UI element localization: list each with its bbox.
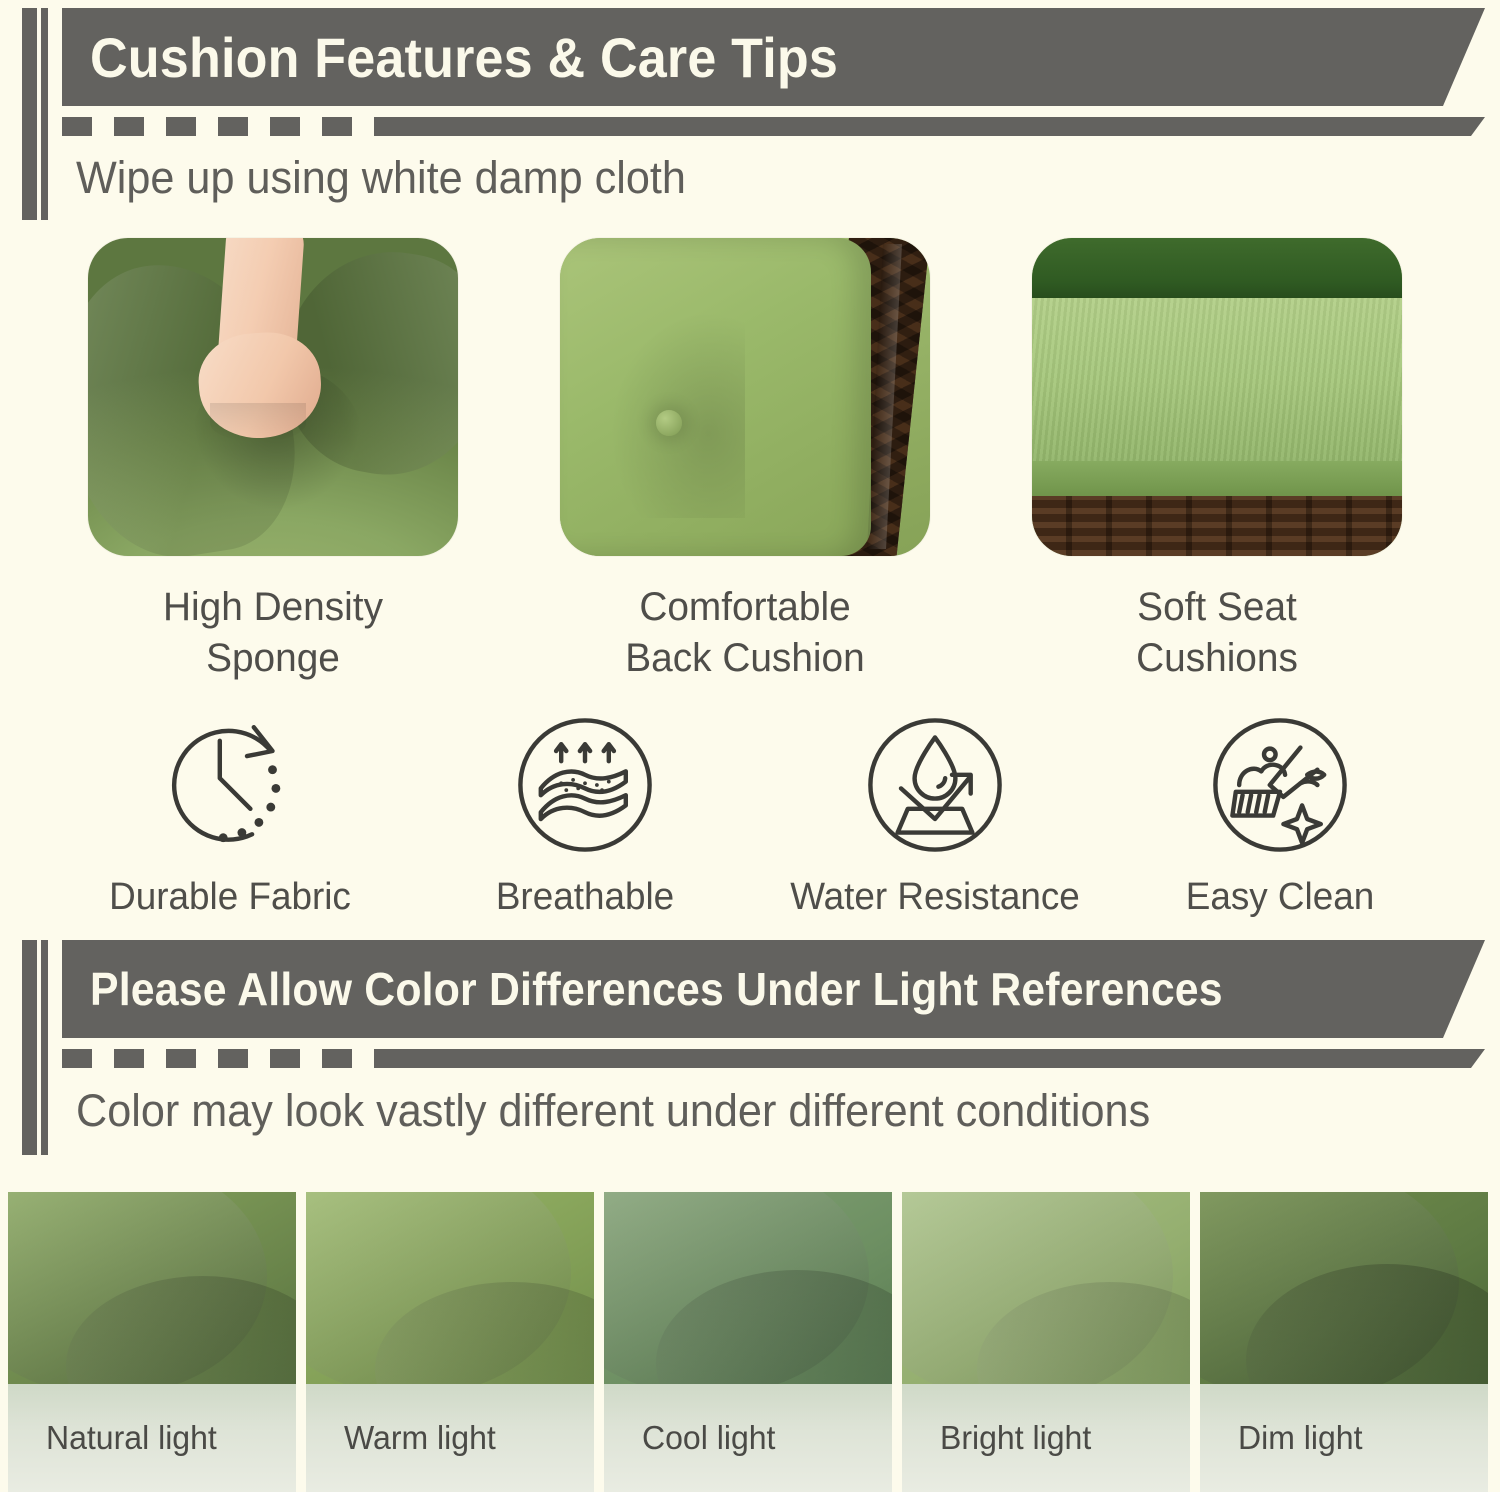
photo-soft-seat-cushions (1032, 238, 1402, 556)
feature-label: Breathable (410, 876, 759, 919)
swatch-caption-band: Cool light (604, 1384, 892, 1492)
divider-dash (166, 1049, 196, 1068)
feature-label: Durable Fabric (55, 876, 404, 919)
photo-cell-high-density-sponge: High Density Sponge (68, 238, 478, 684)
swatch-cool-light: Cool light (604, 1192, 892, 1492)
swatch-caption-band: Dim light (1200, 1384, 1488, 1492)
swatch-caption-band: Warm light (306, 1384, 594, 1492)
banner-color-differences: Please Allow Color Differences Under Lig… (62, 940, 1485, 1038)
swatch-label: Natural light (46, 1419, 217, 1457)
feature-easy-clean: Easy Clean (1100, 700, 1460, 919)
photo-cell-soft-seat-cushions: Soft Seat Cushions (1012, 238, 1422, 684)
photo-image (88, 238, 458, 556)
swatch-dim-light: Dim light (1200, 1192, 1488, 1492)
feature-photo-row: High Density Sponge Comfortable Back Cus… (0, 238, 1500, 693)
photo-image (560, 238, 930, 556)
photo-image (1032, 238, 1402, 556)
swatch-caption-band: Bright light (902, 1384, 1190, 1492)
breathable-fabric-icon (500, 700, 670, 870)
photo-high-density-sponge (88, 238, 458, 556)
feature-water-resistance: Water Resistance (755, 700, 1115, 919)
divider-dashed-top (62, 117, 1485, 136)
feature-durable-fabric: Durable Fabric (50, 700, 410, 919)
divider-solid (374, 1049, 1485, 1068)
swatch-label: Dim light (1238, 1419, 1363, 1457)
caption-line-1: Soft Seat (1018, 582, 1416, 633)
divider-dash (114, 117, 144, 136)
swatch-natural-light: Natural light (8, 1192, 296, 1492)
photo-comfortable-back-cushion (560, 238, 930, 556)
banner-title: Cushion Features & Care Tips (90, 25, 838, 90)
water-droplet-repel-icon (850, 700, 1020, 870)
divider-dash (166, 117, 196, 136)
divider-dash (322, 117, 352, 136)
caption-line-1: High Density (74, 582, 472, 633)
photo-caption: Comfortable Back Cushion (546, 582, 944, 684)
subtitle-wipe-instruction: Wipe up using white damp cloth (76, 152, 686, 204)
left-rule-thick-bottom (22, 940, 37, 1155)
color-swatch-row: Natural light Warm light Cool light (0, 1192, 1500, 1492)
swatch-label: Cool light (642, 1419, 775, 1457)
divider-dashed-bottom (62, 1049, 1485, 1068)
caption-line-2: Back Cushion (546, 633, 944, 684)
feature-label: Water Resistance (760, 876, 1109, 919)
brush-sparkle-icon (1195, 700, 1365, 870)
swatch-caption-band: Natural light (8, 1384, 296, 1492)
infographic-page: Cushion Features & Care Tips Wipe up usi… (0, 0, 1500, 1492)
photo-cell-comfortable-back-cushion: Comfortable Back Cushion (540, 238, 950, 684)
banner-cushion-features: Cushion Features & Care Tips (62, 8, 1485, 106)
swatch-bright-light: Bright light (902, 1192, 1190, 1492)
divider-dash (322, 1049, 352, 1068)
left-rule-thin-bottom (41, 940, 48, 1155)
divider-dash (270, 117, 300, 136)
swatch-label: Warm light (344, 1419, 496, 1457)
banner-title: Please Allow Color Differences Under Lig… (90, 962, 1223, 1016)
divider-dash (62, 117, 92, 136)
photo-caption: Soft Seat Cushions (1018, 582, 1416, 684)
swatch-warm-light: Warm light (306, 1192, 594, 1492)
subtitle-color-note: Color may look vastly different under di… (76, 1085, 1150, 1137)
swatch-label: Bright light (940, 1419, 1091, 1457)
divider-dash (218, 1049, 248, 1068)
divider-solid (374, 117, 1485, 136)
left-rule-thick-top (22, 8, 37, 220)
divider-dash (218, 117, 248, 136)
divider-dash (114, 1049, 144, 1068)
caption-line-2: Cushions (1018, 633, 1416, 684)
photo-caption: High Density Sponge (74, 582, 472, 684)
divider-dash (270, 1049, 300, 1068)
feature-breathable: Breathable (405, 700, 765, 919)
caption-line-2: Sponge (74, 633, 472, 684)
clock-rotate-icon (145, 700, 315, 870)
left-rule-thin-top (41, 8, 48, 220)
divider-dash (62, 1049, 92, 1068)
caption-line-1: Comfortable (546, 582, 944, 633)
feature-label: Easy Clean (1105, 876, 1454, 919)
feature-icon-row: Durable Fabric Breathable (0, 700, 1500, 925)
